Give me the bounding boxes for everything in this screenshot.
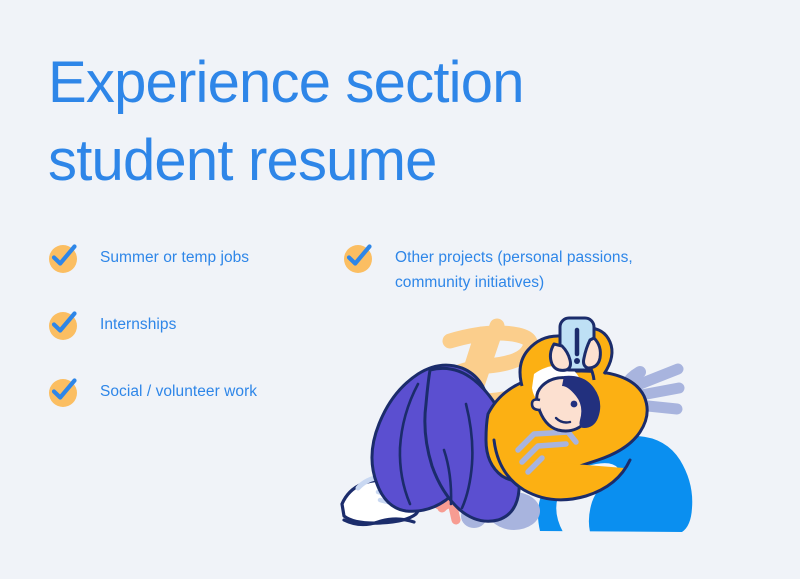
- check-icon: [341, 240, 375, 274]
- student-lying-with-phone-illustration: [322, 308, 722, 544]
- list-item-label: Summer or temp jobs: [100, 244, 249, 270]
- list-item: Summer or temp jobs: [46, 244, 336, 274]
- check-icon: [46, 307, 80, 341]
- infographic-canvas: Experience section student resume Summer…: [0, 0, 800, 579]
- checklist-left-column: Summer or temp jobs Internships Social /…: [46, 244, 336, 445]
- list-item-label: Internships: [100, 311, 176, 337]
- list-item: Internships: [46, 311, 336, 341]
- eye: [571, 401, 578, 408]
- list-item-label: Social / volunteer work: [100, 378, 257, 404]
- check-icon: [46, 374, 80, 408]
- list-item-label: Other projects (personal passions, commu…: [395, 244, 711, 295]
- list-item: Other projects (personal passions, commu…: [341, 244, 711, 295]
- check-icon: [46, 240, 80, 274]
- page-title: Experience section student resume: [48, 44, 688, 200]
- list-item: Social / volunteer work: [46, 378, 336, 408]
